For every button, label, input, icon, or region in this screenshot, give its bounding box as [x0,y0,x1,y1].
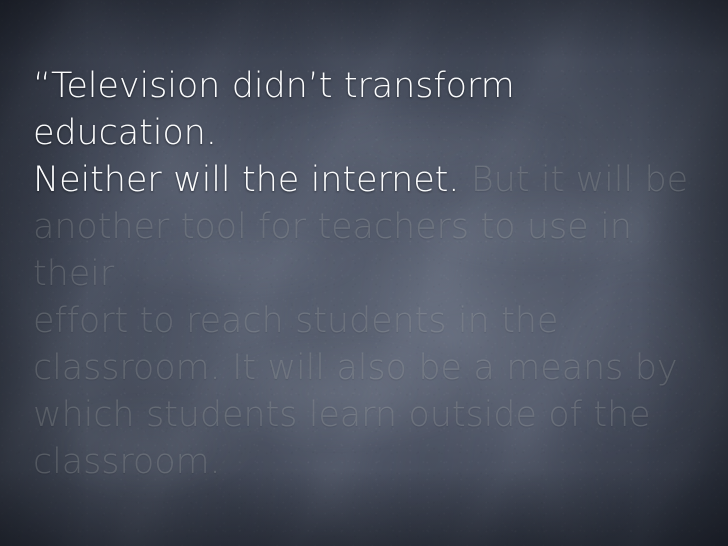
quote-bright-segment: “Television didn’t transform education. … [33,66,526,200]
slide-canvas: “Television didn’t transform education. … [0,0,728,546]
quote-faded-segment: But it will be another tool for teachers… [33,160,688,482]
quote-block: “Television didn’t transform education. … [33,63,705,486]
